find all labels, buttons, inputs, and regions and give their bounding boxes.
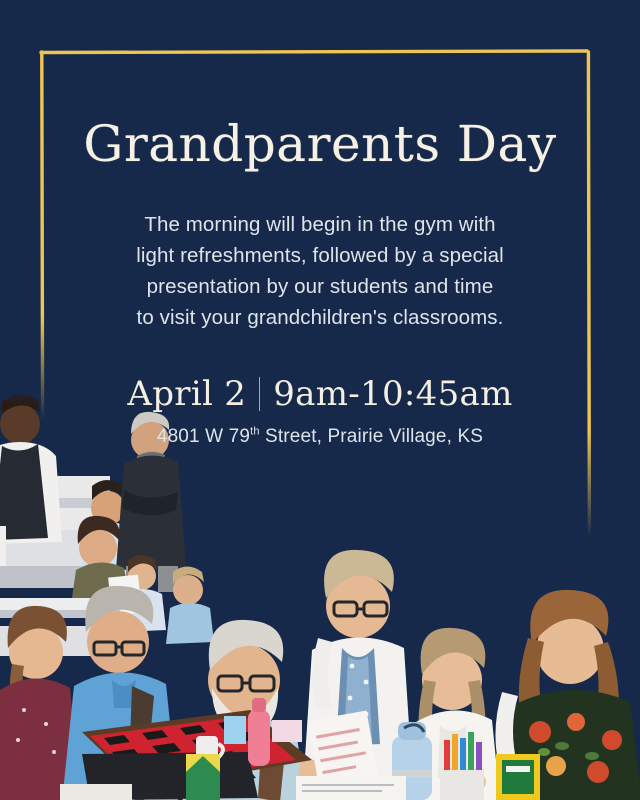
grandparents-day-poster: Grandparents Day The morning will begin … [0,0,640,800]
address-ordinal-suffix: th [250,425,260,437]
description-text: The morning will begin in the gym with l… [0,171,640,334]
event-address: 4801 W 79th Street, Prairie Village, KS [0,414,640,448]
event-date: April 2 [127,374,246,414]
description-line-3: presentation by our students and time [0,271,640,302]
description-line-4: to visit your grandchildren's classrooms… [0,302,640,333]
description-line-1: The morning will begin in the gym with [0,209,640,240]
poster-content: Grandparents Day The morning will begin … [0,0,640,448]
page-title: Grandparents Day [0,0,640,171]
address-city-state: Street, Prairie Village, KS [260,426,484,447]
event-time: 9am-10:45am [273,374,512,414]
address-street-number: 4801 W 79 [157,426,250,447]
datetime-divider [259,377,260,411]
description-line-2: light refreshments, followed by a specia… [0,240,640,271]
event-datetime: April 2 9am-10:45am [0,334,640,414]
